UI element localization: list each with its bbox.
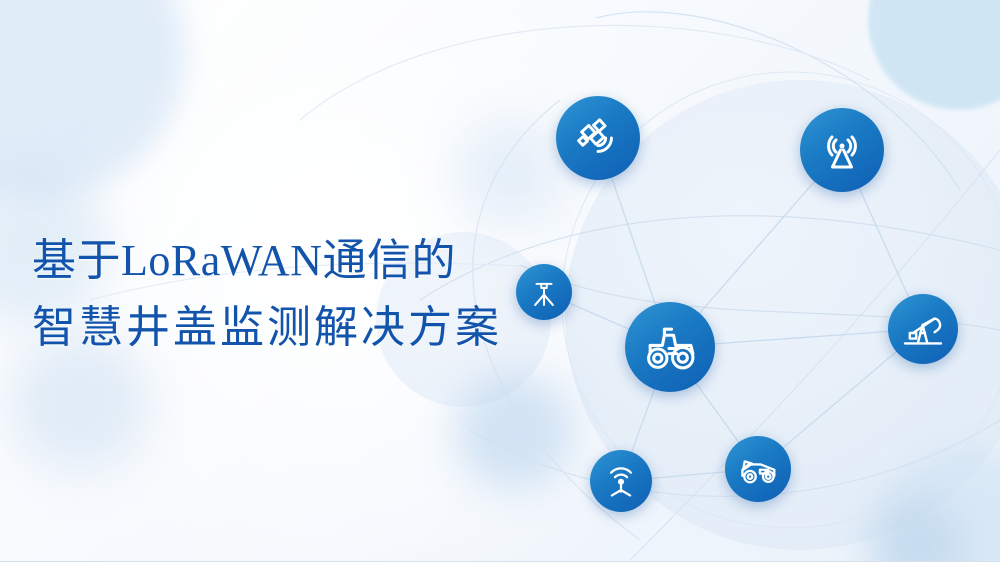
survey-tripod-icon (527, 275, 561, 309)
node-tractor[interactable] (625, 302, 715, 392)
title-line-1: 基于LoRaWAN通信的 (32, 228, 502, 295)
satellite-signal-icon (574, 114, 622, 162)
oil-pumpjack-icon (901, 309, 945, 349)
slide-canvas: 基于LoRaWAN通信的 智慧井盖监测解决方案 (0, 0, 1000, 562)
node-radio-tower[interactable] (800, 108, 884, 192)
node-satellite[interactable] (556, 96, 640, 180)
title-line-2: 智慧井盖监测解决方案 (32, 295, 502, 362)
node-sensor-beacon[interactable] (590, 450, 652, 512)
sensor-beacon-icon (602, 462, 640, 500)
radio-tower-icon (817, 125, 867, 175)
harvester-icon (737, 450, 779, 488)
tractor-icon (642, 322, 698, 373)
node-oil-pumpjack[interactable] (888, 294, 958, 364)
slide-title: 基于LoRaWAN通信的 智慧井盖监测解决方案 (32, 228, 502, 362)
node-harvester[interactable] (725, 436, 791, 502)
node-survey-tripod[interactable] (516, 264, 572, 320)
